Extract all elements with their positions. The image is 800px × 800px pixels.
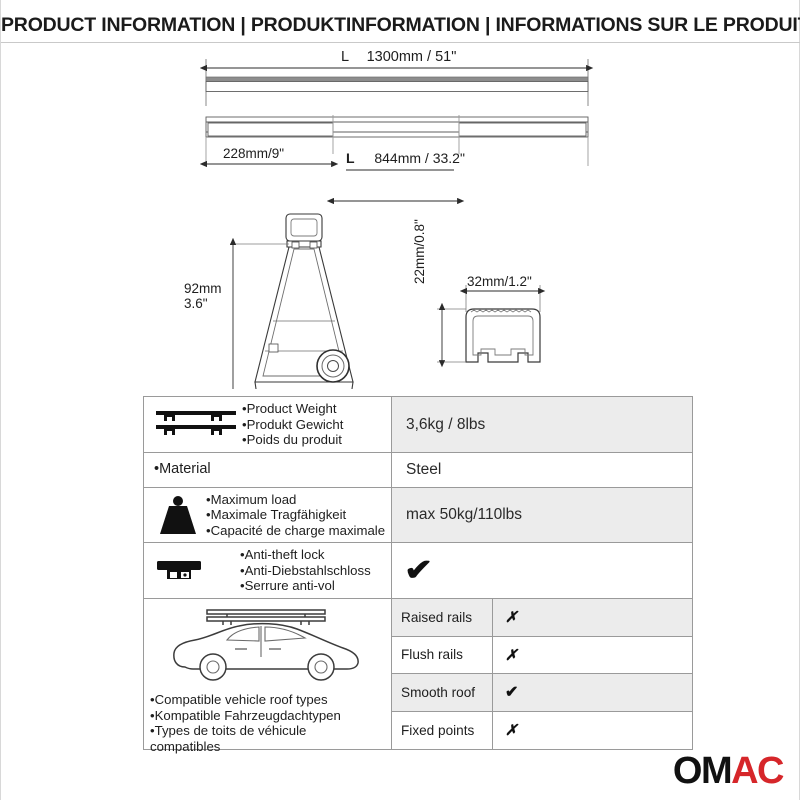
compatibility-label-cell: •Compatible vehicle roof types •Kompatib… xyxy=(144,599,392,749)
spec-label-line-en: •Material xyxy=(154,462,211,478)
car-with-rack-icon xyxy=(165,605,370,688)
spec-label-text: •Maximum load •Maximale Tragfähigkeit •C… xyxy=(206,492,385,539)
logo-text-red: AC xyxy=(731,750,783,792)
compat-label-line-de: •Kompatible Fahrzeugdachtypen xyxy=(150,708,341,724)
roof-type-table: Raised rails ✗ Flush rails ✗ Smooth roof… xyxy=(392,599,692,749)
spec-label-line-fr: •Serrure anti-vol xyxy=(240,578,371,594)
table-row: •Product Weight •Produkt Gewicht •Poids … xyxy=(144,397,692,453)
spec-value-weight: 3,6kg / 8lbs xyxy=(392,397,692,452)
header-divider xyxy=(1,42,800,43)
dimension-bar-length-symbol: L xyxy=(341,49,349,65)
spec-label-line-de: •Produkt Gewicht xyxy=(242,417,343,433)
dimension-bar-length-value: 1300mm / 51" xyxy=(367,49,457,65)
dimension-foot-height-mm: 92mm xyxy=(184,281,222,296)
spec-label-line-en: •Anti-theft lock xyxy=(240,547,371,563)
spec-label-line-fr: •Capacité de charge maximale xyxy=(206,523,385,539)
dimension-profile-width: 32mm/1.2" xyxy=(467,274,532,289)
dimension-span-value: 844mm / 33.2" xyxy=(374,150,465,166)
compatibility-label-text: •Compatible vehicle roof types •Kompatib… xyxy=(144,692,341,754)
roof-type-row-raised-rails: Raised rails ✗ xyxy=(392,599,692,637)
table-row: •Anti-theft lock •Anti-Diebstahlschloss … xyxy=(144,543,692,599)
compat-label-line-fr-cont: compatibles xyxy=(150,739,341,755)
checkmark-icon: ✔ xyxy=(404,556,433,586)
technical-drawing: L 1300mm / 51" 228mm/9" L 844mm / 33.2" … xyxy=(1,44,800,389)
table-row-compatibility: •Compatible vehicle roof types •Kompatib… xyxy=(144,599,692,749)
spec-value-max-load: max 50kg/110lbs xyxy=(392,488,692,542)
roof-type-name: Fixed points xyxy=(392,712,493,750)
omac-logo: OMAC xyxy=(673,752,783,790)
spec-label-text: •Material xyxy=(154,462,211,478)
dimension-span: L 844mm / 33.2" xyxy=(346,150,465,166)
dimension-profile-height: 22mm/0.8" xyxy=(412,219,427,284)
lock-icon xyxy=(150,557,210,585)
spec-value-material: Steel xyxy=(392,453,692,487)
dimension-end-offset: 228mm/9" xyxy=(223,146,284,161)
product-information-sheet: PRODUCT INFORMATION | PRODUKTINFORMATION… xyxy=(0,0,800,800)
spec-label-text: •Product Weight •Produkt Gewicht •Poids … xyxy=(242,401,343,448)
roof-type-name: Flush rails xyxy=(392,637,493,674)
roof-type-row-smooth-roof: Smooth roof ✔ xyxy=(392,674,692,712)
spec-label-cell: •Maximum load •Maximale Tragfähigkeit •C… xyxy=(144,488,392,542)
specification-table: •Product Weight •Produkt Gewicht •Poids … xyxy=(143,396,693,750)
roof-type-row-fixed-points: Fixed points ✗ xyxy=(392,712,692,750)
compat-label-line-en: •Compatible vehicle roof types xyxy=(150,692,341,708)
dimension-foot-height: 92mm 3.6" xyxy=(184,281,222,311)
compat-label-line-fr: •Types de toits de véhicule xyxy=(150,723,341,739)
dimension-bar-length: L 1300mm / 51" xyxy=(341,49,456,65)
roof-type-name: Raised rails xyxy=(392,599,493,636)
cross-icon: ✗ xyxy=(493,599,692,636)
table-row: •Material Steel xyxy=(144,453,692,488)
dimension-span-symbol: L xyxy=(346,150,355,166)
spec-label-cell: •Anti-theft lock •Anti-Diebstahlschloss … xyxy=(144,543,392,598)
spec-label-cell: •Material xyxy=(144,453,392,487)
cross-icon: ✗ xyxy=(493,712,692,750)
weight-icon xyxy=(150,494,206,536)
crossbars-icon xyxy=(150,408,242,442)
spec-label-line-en: •Maximum load xyxy=(206,492,385,508)
spec-label-text: •Anti-theft lock •Anti-Diebstahlschloss … xyxy=(240,547,371,594)
spec-label-line-de: •Anti-Diebstahlschloss xyxy=(240,563,371,579)
checkmark-icon: ✔ xyxy=(493,674,692,711)
spec-label-line-en: •Product Weight xyxy=(242,401,343,417)
spec-value-anti-theft: ✔ xyxy=(392,543,692,598)
spec-label-line-fr: •Poids du produit xyxy=(242,432,343,448)
logo-text-dark: OM xyxy=(673,750,731,792)
roof-type-row-flush-rails: Flush rails ✗ xyxy=(392,637,692,675)
table-row: •Maximum load •Maximale Tragfähigkeit •C… xyxy=(144,488,692,543)
spec-label-cell: •Product Weight •Produkt Gewicht •Poids … xyxy=(144,397,392,452)
dimension-foot-height-in: 3.6" xyxy=(184,296,222,311)
roof-type-name: Smooth roof xyxy=(392,674,493,711)
cross-icon: ✗ xyxy=(493,637,692,674)
spec-label-line-de: •Maximale Tragfähigkeit xyxy=(206,507,385,523)
page-title: PRODUCT INFORMATION | PRODUKTINFORMATION… xyxy=(1,14,800,37)
